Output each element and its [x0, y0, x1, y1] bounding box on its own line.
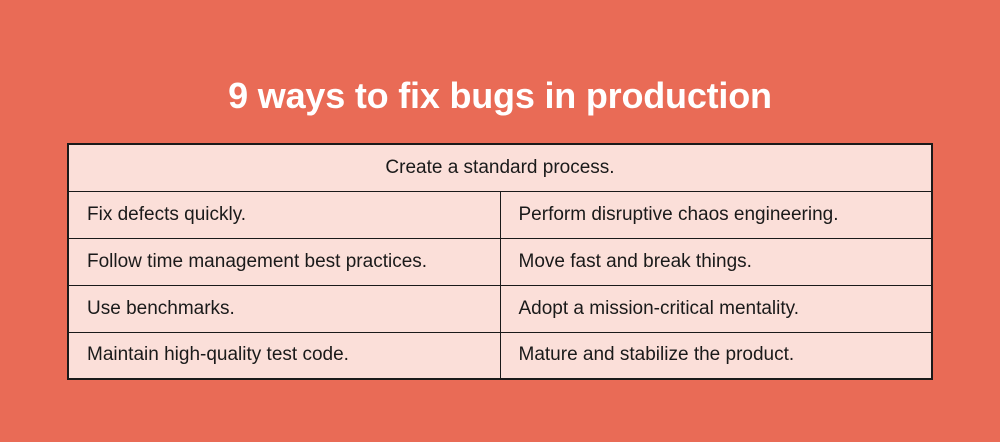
- table-cell-left: Follow time management best practices.: [68, 238, 500, 285]
- table-header-cell: Create a standard process.: [68, 144, 932, 191]
- table-row: Use benchmarks. Adopt a mission-critical…: [68, 285, 932, 332]
- infographic-page: 9 ways to fix bugs in production Create …: [0, 0, 1000, 442]
- table-row-header: Create a standard process.: [68, 144, 932, 191]
- table-cell-right: Move fast and break things.: [500, 238, 932, 285]
- ways-table: Create a standard process. Fix defects q…: [67, 143, 933, 380]
- page-title: 9 ways to fix bugs in production: [0, 74, 1000, 118]
- table-cell-right: Mature and stabilize the product.: [500, 332, 932, 379]
- table-cell-left: Use benchmarks.: [68, 285, 500, 332]
- table-cell-right: Perform disruptive chaos engineering.: [500, 191, 932, 238]
- table-cell-right: Adopt a mission-critical mentality.: [500, 285, 932, 332]
- ways-table-container: Create a standard process. Fix defects q…: [67, 143, 933, 380]
- table-row: Fix defects quickly. Perform disruptive …: [68, 191, 932, 238]
- table-cell-left: Fix defects quickly.: [68, 191, 500, 238]
- table-row: Follow time management best practices. M…: [68, 238, 932, 285]
- table-cell-left: Maintain high-quality test code.: [68, 332, 500, 379]
- table-row: Maintain high-quality test code. Mature …: [68, 332, 932, 379]
